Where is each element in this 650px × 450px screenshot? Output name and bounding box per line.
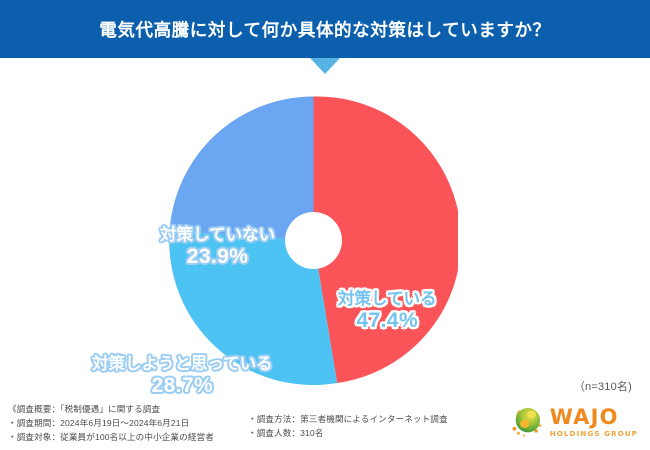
survey-line: ・調査対象：従業員が100名以上の中小企業の経営者 [8, 430, 214, 444]
survey-line: ・調査人数：310名 [248, 426, 448, 440]
pie-chart: 対策している 47.4% 対策していない 23.9% 対策しようと思っている 2… [0, 78, 650, 378]
page-title: 電気代高騰に対して何か具体的な対策はしていますか？ [99, 17, 550, 42]
header-down-arrow-icon [310, 58, 340, 74]
sample-size-label: （n=310名) [574, 378, 632, 394]
wajo-logo-tagline: HOLDINGS GROUP [550, 430, 638, 437]
wajo-logo[interactable]: WAJO HOLDINGS GROUP [509, 404, 638, 440]
survey-overview-left: 《調査概要：「税制優遇」に関する調査 ・調査期間：2024年6月19日〜2024… [8, 402, 214, 445]
page-header: 電気代高騰に対して何か具体的な対策はしていますか？ [0, 0, 650, 58]
footer: 《調査概要：「税制優遇」に関する調査 ・調査期間：2024年6月19日〜2024… [0, 398, 650, 450]
survey-overview-right: ・調査方法：第三者機関によるインターネット調査 ・調査人数：310名 [248, 412, 448, 440]
wajo-logo-text: WAJO HOLDINGS GROUP [550, 407, 638, 437]
survey-line: ・調査方法：第三者機関によるインターネット調査 [248, 412, 448, 426]
donut-hole [285, 212, 342, 269]
donut-svg [169, 96, 458, 385]
survey-line: ・調査期間：2024年6月19日〜2024年6月21日 [8, 416, 214, 430]
wajo-logo-mark-icon [509, 404, 545, 440]
wajo-logo-word: WAJO [550, 407, 638, 428]
survey-line: 《調査概要：「税制優遇」に関する調査 [8, 402, 214, 416]
pie-slice-taisaku-shiteinai[interactable] [170, 96, 314, 240]
donut-chart-graphic [169, 96, 458, 385]
